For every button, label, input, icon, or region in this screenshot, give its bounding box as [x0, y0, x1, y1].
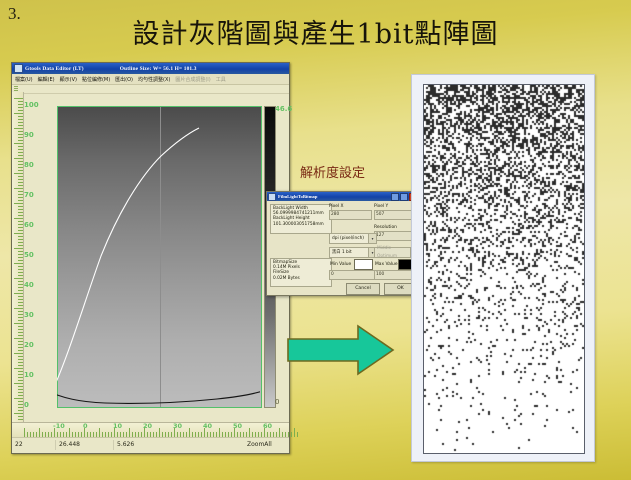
status-bar: 22 26.448 5.626 ZoomAll: [12, 437, 289, 452]
zoom-all-button[interactable]: ZoomAll: [244, 440, 289, 450]
menu-item-edit[interactable]: 編輯(E): [38, 76, 55, 83]
menu-item-point-edit[interactable]: 點位編修(M): [82, 76, 110, 83]
gtools-data-editor-window[interactable]: Gtools Data Editor (LT) Outline Size: W=…: [11, 62, 290, 454]
min-value-label: Min Value: [330, 262, 351, 267]
page-title: 設計灰階圖與產生1bit點陣圖: [0, 12, 631, 51]
menu-bar[interactable]: 檔案(U) 編輯(E) 顯示(V) 點位編修(M) 匯出(O) 均勻性調整(X)…: [12, 74, 289, 85]
app-document-icon: [14, 64, 23, 73]
plot-area[interactable]: 100 90 80 70 60 50 40 30 20 10 0 46.6 0 …: [12, 92, 289, 437]
min-value-color-swatch[interactable]: [354, 259, 373, 270]
min-value-input[interactable]: 0: [329, 270, 375, 280]
y-tick-30: 30: [24, 311, 34, 319]
chevron-down-icon[interactable]: ▾: [368, 234, 376, 243]
status-field-1: 22: [12, 440, 56, 450]
status-field-3: 5.626: [114, 440, 244, 450]
pixel-x-input[interactable]: 280: [329, 210, 372, 220]
y-tick-70: 70: [24, 191, 34, 199]
curve-overlay: [57, 106, 260, 406]
color-depth-value: 黑白 1 bit: [332, 249, 352, 257]
maximize-icon[interactable]: [400, 193, 408, 201]
menu-item-view[interactable]: 顯示(V): [60, 76, 77, 83]
pixel-y-label: Pixel Y: [374, 204, 388, 209]
dither-canvas: [424, 85, 584, 453]
process-arrow-icon: [286, 323, 396, 377]
filmlight-to-bitmap-dialog[interactable]: FilmLightToBitmap BackLight Width 56.099…: [266, 191, 420, 296]
y-tick-10: 10: [24, 371, 34, 379]
dialog-body: BackLight Width 56.0999984741211mm BackL…: [267, 201, 419, 295]
vertical-ruler: [12, 92, 24, 422]
minimize-icon[interactable]: [391, 193, 399, 201]
brightness-curve: [57, 128, 199, 398]
unit-select[interactable]: dpi (pixel/inch) ▾: [329, 233, 377, 244]
cancel-button[interactable]: Cancel: [346, 283, 380, 295]
dialog-title: FilmLightToBitmap: [278, 194, 317, 199]
menu-item-file[interactable]: 檔案(U): [15, 76, 33, 83]
y-tick-90: 90: [24, 131, 34, 139]
window-title: Gtools Data Editor (LT): [25, 66, 84, 72]
y-axis-tick-labels: 100 90 80 70 60 50 40 30 20 10 0: [24, 92, 46, 422]
legend-max-label: 46.6: [275, 105, 292, 113]
menu-item-export[interactable]: 匯出(O): [115, 76, 133, 83]
file-size-value: 0.02M Bytes: [273, 276, 329, 281]
y-tick-100: 100: [24, 101, 39, 109]
outline-size-readout: Outline Size: W= 56.1 H= 101.3: [120, 66, 197, 72]
bitmap-preview-panel[interactable]: [411, 74, 595, 462]
bitmap-size-panel: BitmapSize 0.14M Pixels FileSize 0.02M B…: [270, 258, 332, 287]
baseline-curve: [57, 391, 260, 403]
color-depth-select[interactable]: 黑白 1 bit ▾: [329, 247, 377, 258]
status-field-2: 26.448: [56, 440, 114, 450]
max-value-label: Max Value: [375, 262, 398, 267]
resolution-setting-annotation: 解析度設定: [300, 162, 365, 181]
menu-item-image-compose: 圖片合成調整(I): [175, 76, 210, 83]
dithered-1bit-bitmap: [423, 84, 585, 454]
menu-item-uniformity[interactable]: 均勻性調整(X): [138, 76, 170, 83]
y-tick-60: 60: [24, 221, 34, 229]
horizontal-ruler: -10 0 10 20 30 40 50 60: [12, 422, 289, 437]
y-tick-40: 40: [24, 281, 34, 289]
menu-item-tools: 工具: [216, 76, 226, 83]
backlight-info-panel: BackLight Width 56.0999984741211mm BackL…: [270, 204, 332, 234]
window-icon: [268, 193, 276, 201]
pixel-x-label: Pixel X: [329, 204, 344, 209]
dialog-titlebar[interactable]: FilmLightToBitmap: [267, 192, 419, 201]
y-tick-50: 50: [24, 251, 34, 259]
backlight-height-value: 101.300003051758mm: [273, 222, 329, 227]
y-tick-0: 0: [24, 401, 29, 409]
window-titlebar[interactable]: Gtools Data Editor (LT) Outline Size: W=…: [12, 63, 289, 74]
y-tick-20: 20: [24, 341, 34, 349]
y-tick-80: 80: [24, 161, 34, 169]
legend-min-label: 0: [275, 398, 279, 406]
unit-select-value: dpi (pixel/inch): [332, 235, 364, 243]
resolution-label: Resolution: [374, 225, 397, 230]
